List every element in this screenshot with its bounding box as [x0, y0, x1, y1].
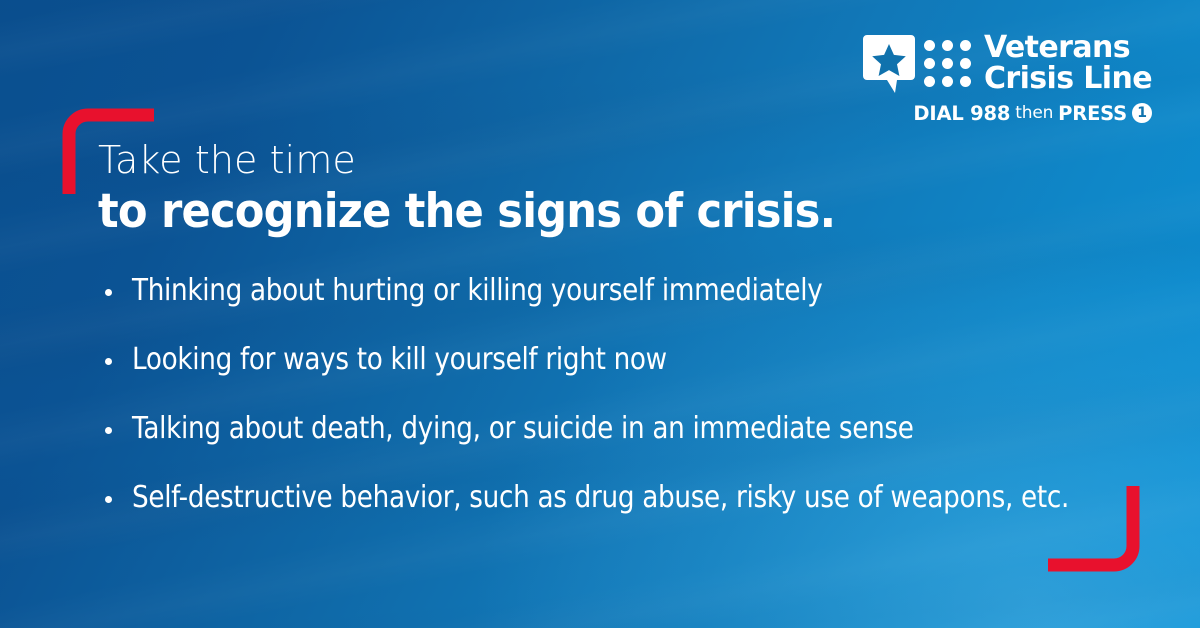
bullet-dot-icon [105, 427, 112, 434]
list-item-label: Thinking about hurting or killing yourse… [132, 272, 822, 310]
list-item-label: Talking about death, dying, or suicide i… [132, 410, 914, 448]
list-item-label: Self-destructive behavior, such as drug … [132, 479, 1069, 517]
page-title: to recognize the signs of crisis. [98, 186, 835, 238]
list-item: Thinking about hurting or killing yourse… [105, 272, 1200, 341]
bullet-dot-icon [105, 289, 112, 296]
headline-eyebrow: Take the time [98, 140, 899, 180]
bullet-dot-icon [105, 496, 112, 503]
warning-signs-list: Thinking about hurting or killing yourse… [105, 272, 1200, 548]
tagline-then-word: then [1015, 103, 1053, 123]
bullet-dot-icon [105, 358, 112, 365]
keypad-dots-icon [924, 40, 971, 87]
logo-wordmark-line2: Crisis Line [984, 64, 1152, 95]
logo-wordmark: Veterans Crisis Line [984, 33, 1152, 95]
tagline-press-word: PRESS [1058, 102, 1127, 125]
headline-block: Take the time to recognize the signs of … [98, 140, 899, 238]
list-item: Looking for ways to kill yourself right … [105, 341, 1200, 410]
logo-wordmark-line1: Veterans [984, 33, 1152, 64]
veterans-crisis-line-logo: Veterans Crisis Line DIAL 988 then PRESS… [863, 34, 1152, 125]
list-item: Self-destructive behavior, such as drug … [105, 479, 1200, 548]
crisis-awareness-poster: Veterans Crisis Line DIAL 988 then PRESS… [0, 0, 1200, 628]
speech-bubble-star-icon [863, 35, 915, 93]
logo-tagline: DIAL 988 then PRESS 1 [913, 102, 1152, 125]
press-one-badge: 1 [1132, 103, 1152, 123]
logo-top-row: Veterans Crisis Line [863, 34, 1152, 95]
tagline-dial-number: DIAL 988 [913, 102, 1010, 125]
list-item: Talking about death, dying, or suicide i… [105, 410, 1200, 479]
list-item-label: Looking for ways to kill yourself right … [132, 341, 667, 379]
